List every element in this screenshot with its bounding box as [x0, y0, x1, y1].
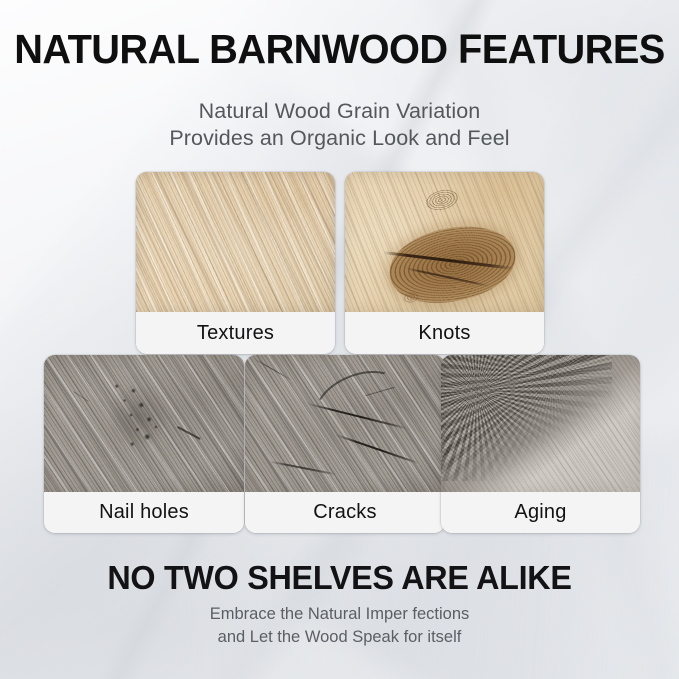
- feature-image-knots: [345, 172, 544, 312]
- feature-image-nail-holes: [44, 355, 244, 492]
- crack-line-corner: [254, 358, 293, 381]
- feature-image-cracks: [245, 355, 445, 492]
- footer-subtitle: Embrace the Natural Imper fections and L…: [0, 603, 679, 649]
- subtitle-line-1: Natural Wood Grain Variation: [0, 98, 679, 125]
- feature-card-aging[interactable]: Aging: [441, 355, 640, 533]
- feature-label-nail-holes: Nail holes: [44, 492, 244, 533]
- wood-grain-texture: [136, 172, 335, 312]
- feature-card-nail-holes[interactable]: Nail holes: [44, 355, 244, 533]
- footer-subtitle-line-1: Embrace the Natural Imper fections: [0, 603, 679, 626]
- surface-scratch: [73, 391, 89, 402]
- aged-patina-texture: [441, 355, 640, 492]
- subtitle: Natural Wood Grain Variation Provides an…: [0, 98, 679, 152]
- poster-canvas: NATURAL BARNWOOD FEATURES Natural Wood G…: [0, 0, 679, 679]
- nail-hole-cluster: [94, 372, 177, 466]
- crack-line-left: [269, 461, 336, 476]
- weathered-wood-texture: [44, 355, 244, 492]
- feature-image-aging: [441, 355, 640, 492]
- page-title: NATURAL BARNWOOD FEATURES: [10, 26, 669, 73]
- crack-line-main: [306, 403, 407, 430]
- surface-scratch: [177, 426, 201, 440]
- feature-label-textures: Textures: [136, 312, 335, 354]
- footer-headline: NO TWO SHELVES ARE ALIKE: [7, 558, 672, 598]
- feature-card-textures[interactable]: Textures: [136, 172, 335, 354]
- weathered-wood-texture: [245, 355, 445, 492]
- feature-image-textures: [136, 172, 335, 312]
- feature-label-knots: Knots: [345, 312, 544, 354]
- footer-subtitle-line-2: and Let the Wood Speak for itself: [0, 626, 679, 649]
- knot-small-ring: [423, 186, 461, 214]
- feature-label-cracks: Cracks: [245, 492, 445, 533]
- feature-label-aging: Aging: [441, 492, 640, 533]
- wood-knot-texture: [345, 172, 544, 312]
- subtitle-line-2: Provides an Organic Look and Feel: [0, 125, 679, 152]
- crack-arc: [306, 359, 413, 447]
- surface-scratch: [365, 387, 394, 397]
- feature-card-knots[interactable]: Knots: [345, 172, 544, 354]
- crack-line-lower: [335, 434, 419, 465]
- feature-card-cracks[interactable]: Cracks: [245, 355, 445, 533]
